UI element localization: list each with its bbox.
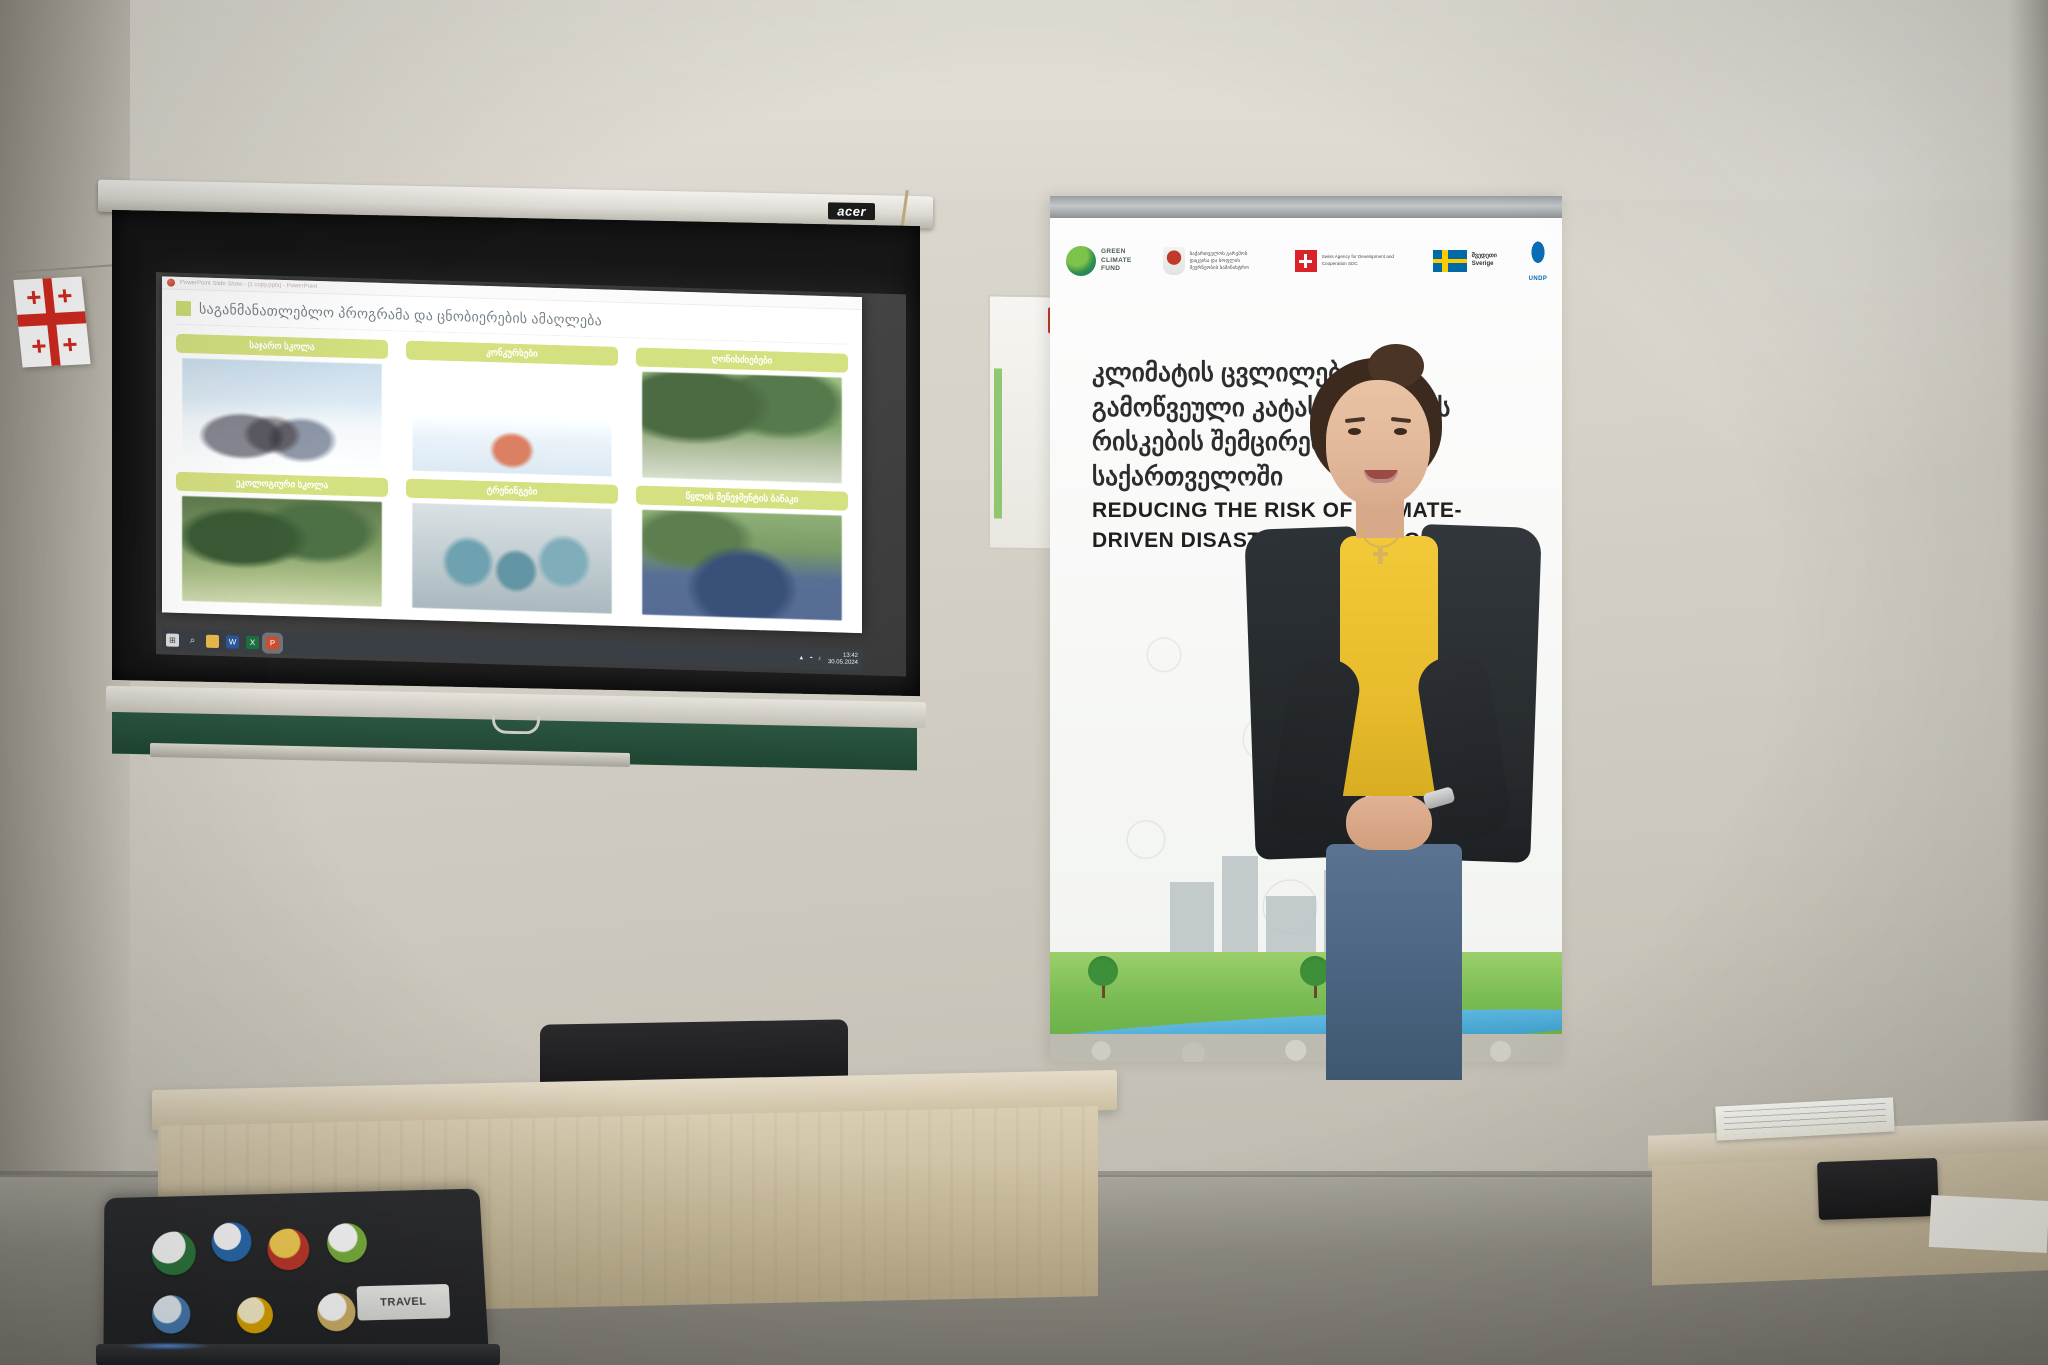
excel-icon[interactable]: X [246, 635, 259, 648]
laptop[interactable]: TRAVEL [104, 1192, 524, 1365]
slide-card: საჯარო სკოლა [176, 334, 388, 470]
laptop-sticker-label: TRAVEL [357, 1284, 451, 1321]
clasped-hands [1346, 796, 1432, 850]
slide-card-title: ღონისძიებები [636, 347, 848, 372]
slide-card-photo [412, 502, 611, 613]
flag-cross-icon [58, 289, 72, 303]
room-scene: acer PowerPoint Slide Show - [1 copy.ppt… [0, 0, 2048, 1365]
slide-card: კონკურსები [406, 341, 618, 477]
logo-green-climate-fund: GREENCLIMATEFUND [1066, 246, 1132, 276]
slide-title: საგანმანათლებლო პროგრამა და ცნობიერების … [199, 300, 602, 329]
undp-icon [1528, 240, 1548, 274]
projection-screen: acer PowerPoint Slide Show - [1 copy.ppt… [98, 180, 933, 717]
search-icon[interactable]: ⌕ [186, 634, 199, 647]
tray-volume-icon[interactable]: ♪ [818, 656, 821, 662]
clock-time: 13:42 [843, 653, 858, 659]
word-icon[interactable]: W [226, 635, 239, 648]
flag-cross-icon [63, 338, 77, 352]
slide-card-title: წყლის მენეჯმენტის ბანაკი [636, 485, 848, 510]
taskbar-clock[interactable]: 13:42 30.05.2024 [828, 652, 858, 667]
banner-logo-row: GREENCLIMATEFUND საქართველოს გარემოს დაც… [1066, 230, 1548, 292]
laptop-sticker [211, 1222, 251, 1262]
eye-right [1394, 428, 1407, 435]
laptop-sticker [152, 1231, 196, 1276]
tray-chevron-icon[interactable]: ▲ [798, 655, 804, 661]
logo-label: UNDP [1529, 276, 1548, 282]
tree-icon [1088, 956, 1118, 998]
crest-icon [1163, 247, 1185, 275]
eye-left [1348, 428, 1361, 435]
slide-accent-square [176, 301, 191, 316]
window-title: PowerPoint Slide Show - [1 copy.pptx] - … [180, 280, 317, 290]
slide-card-grid: საჯარო სკოლა კონკურსები ღონისძიებები [176, 334, 848, 621]
file-explorer-icon[interactable] [206, 634, 219, 647]
slide-card: ღონისძიებები [636, 347, 848, 483]
flag-cross-icon [27, 291, 41, 305]
white-sheet [1929, 1195, 2048, 1253]
projected-desktop: PowerPoint Slide Show - [1 copy.pptx] - … [156, 272, 906, 676]
laptop-sticker [236, 1297, 273, 1334]
laptop-sticker [152, 1295, 190, 1334]
logo-label: შვედეთიSverige [1472, 253, 1497, 269]
globe-icon [1066, 246, 1096, 276]
slide-card-photo [182, 495, 381, 606]
slide-card-title: ტრენინგები [406, 478, 618, 503]
taskbar-spacer [286, 643, 791, 658]
slide-card-title: კონკურსები [406, 341, 618, 366]
powerpoint-window[interactable]: PowerPoint Slide Show - [1 copy.pptx] - … [162, 276, 862, 633]
wall-upper-band [0, 0, 2048, 200]
acer-logo: acer [828, 202, 875, 220]
paper-lines [1723, 1103, 1886, 1135]
slide-card-title: ეკოლოგიური სკოლა [176, 471, 388, 496]
yellow-top [1340, 536, 1438, 796]
logo-label: GREENCLIMATEFUND [1101, 248, 1132, 274]
start-button[interactable]: ⊞ [166, 633, 179, 646]
system-tray[interactable]: ▲ ◓ ♪ [798, 655, 821, 662]
logo-label: Swiss Agency for Development and Coopera… [1322, 254, 1402, 267]
cross-pendant-icon [1378, 548, 1383, 564]
powerpoint-icon [167, 279, 175, 287]
clock-date: 30.05.2024 [828, 659, 858, 666]
georgian-flag-icon [13, 276, 90, 367]
presenter-person [1228, 358, 1558, 1078]
slide-card: წყლის მენეჯმენტის ბანაკი [636, 485, 848, 621]
powerpoint-taskbar-icon[interactable]: P [266, 636, 279, 649]
swiss-flag-icon [1295, 250, 1317, 272]
laptop-sticker [326, 1223, 367, 1263]
whiteboard-tape [994, 368, 1002, 518]
flag-cross-icon [32, 339, 46, 353]
logo-swiss-cooperation: Swiss Agency for Development and Coopera… [1295, 250, 1402, 272]
slide-card-photo [182, 358, 381, 469]
laptop-sticker [317, 1292, 357, 1331]
logo-georgia-ministry: საქართველოს გარემოს დაცვისა და სოფლის მე… [1163, 247, 1264, 275]
laptop-lid: TRAVEL [103, 1189, 488, 1358]
slide-card: ეკოლოგიური სკოლა [176, 471, 388, 607]
screen-surface: PowerPoint Slide Show - [1 copy.pptx] - … [112, 210, 920, 696]
logo-sverige: შვედეთიSverige [1433, 250, 1497, 272]
face [1326, 380, 1430, 506]
screen-pull-handle[interactable] [492, 716, 540, 735]
slide-card-photo [642, 372, 841, 483]
laptop-power-led [122, 1342, 212, 1350]
logo-undp: UNDP [1528, 240, 1548, 282]
slide-canvas: საგანმანათლებლო პროგრამა და ცნობიერების … [162, 289, 862, 633]
slide-card-title: საჯარო სკოლა [176, 334, 388, 359]
black-notebook [1817, 1158, 1939, 1220]
slide-card-photo [642, 509, 841, 620]
logo-label: საქართველოს გარემოს დაცვისა და სოფლის მე… [1190, 251, 1264, 272]
sweden-flag-icon [1433, 250, 1467, 272]
jeans [1326, 844, 1462, 1080]
tray-network-icon[interactable]: ◓ [809, 656, 813, 662]
banner-top-rail [1050, 196, 1562, 218]
slide-card-photo [412, 365, 611, 476]
slide-card: ტრენინგები [406, 478, 618, 614]
laptop-sticker [267, 1228, 310, 1271]
